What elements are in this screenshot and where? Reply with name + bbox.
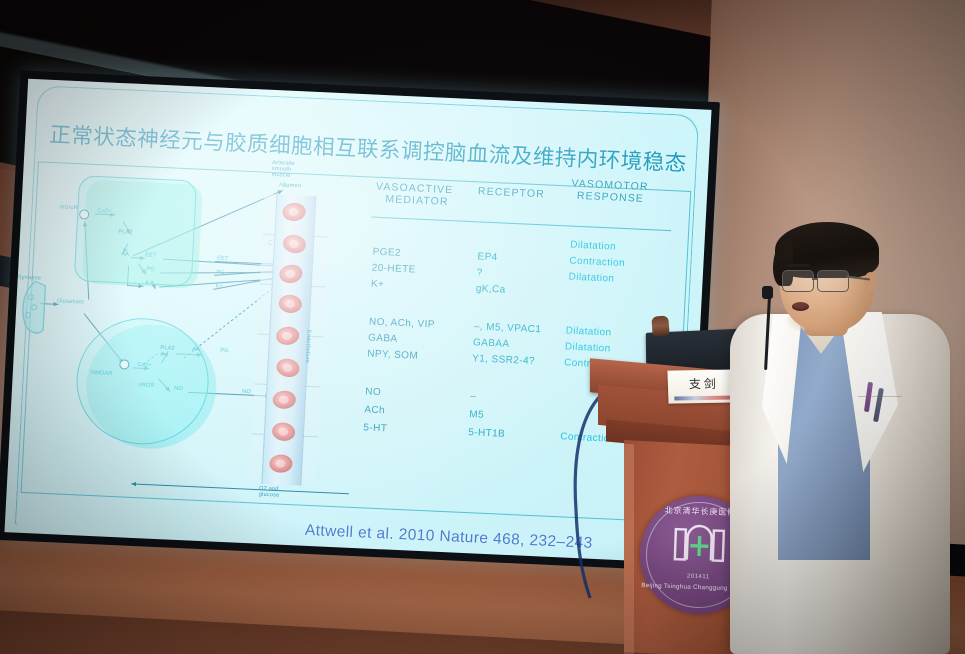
table-header-response: VASOMOTOR RESPONSE: [571, 178, 667, 206]
cell-receptor: –, M5, VPAC1: [474, 321, 542, 335]
arteriole-vessel: Lumen Endothelium: [239, 177, 348, 503]
mouth-speaking: [792, 302, 809, 311]
header-line-2: RESPONSE: [577, 190, 645, 205]
cell-mediator: ACh: [364, 404, 385, 416]
label-ca-astro: Ca2+: [97, 208, 112, 215]
lectern-edge-highlight: [624, 444, 634, 654]
cell-mediator: NPY, SOM: [367, 348, 418, 361]
cell-receptor: gK,Ca: [476, 283, 506, 295]
table-header-receptor: RECEPTOR: [478, 185, 559, 201]
label-k: K+: [146, 280, 154, 286]
speaker-presenter: [718, 228, 965, 654]
speaker-hand-on-laptop: [651, 315, 669, 336]
label-no-neuron: NO: [174, 386, 183, 392]
red-blood-cell: [269, 455, 292, 473]
cell-mediator: GABA: [368, 332, 398, 344]
label-eet: EET: [145, 252, 157, 259]
cell-mediator: NO: [365, 386, 381, 398]
cell-response: Dilatation: [568, 272, 614, 285]
label-synapse: Synapse: [18, 275, 41, 282]
label-pg-2: PG: [216, 270, 225, 276]
cell-receptor: M5: [469, 409, 484, 421]
label-arteriole-smooth-muscle: Arteriole smooth muscle: [271, 160, 306, 180]
cell-mediator: 5-HT: [363, 422, 387, 434]
label-aa-astro: AA: [121, 251, 129, 257]
astrocyte-cell: [74, 175, 197, 286]
cell-receptor: Y1, SSR2-4?: [472, 353, 535, 367]
chin-highlight: [784, 312, 836, 334]
eyeglass-lens-left: [782, 270, 814, 292]
cell-response: Dilatation: [565, 325, 611, 338]
label-ca-neuron: Ca2+: [137, 362, 152, 369]
label-pg-neuron: PG: [220, 348, 229, 354]
table-header-mediator: VASOACTIVE MEDIATOR: [375, 181, 471, 209]
cell-response: Dilatation: [565, 341, 611, 354]
cell-receptor: GABAA: [473, 337, 510, 350]
cell-mediator: PGE2: [372, 247, 401, 259]
cell-receptor: –: [470, 391, 477, 402]
eyeglass-bridge: [812, 278, 818, 280]
cell-response: Dilatation: [570, 240, 616, 253]
cell-receptor: ?: [476, 267, 483, 278]
cell-mediator: NO, ACh, VIP: [369, 317, 435, 331]
label-glutamate: Glutamate: [56, 298, 84, 305]
cell-receptor: EP4: [477, 251, 498, 263]
eyeglass-lens-right: [817, 270, 849, 292]
cell-receptor: 5-HT1B: [468, 427, 505, 440]
synapse-shape: [17, 279, 48, 338]
label-nnos: nNOS: [138, 382, 154, 389]
label-lumen: Lumen: [283, 182, 301, 189]
label-eet-2: EET: [217, 256, 229, 263]
label-nmdar: NMDAR: [91, 370, 113, 377]
label-aa-neuron: AA: [192, 347, 200, 353]
cell-mediator: 20-HETE: [372, 263, 416, 276]
label-k-2: K+: [215, 284, 223, 290]
label-pla2-neuron: PLA2: [160, 345, 175, 352]
cerebral-blood-flow-diagram: Synapse Glutamate mGluR NMDAR Ca2+ Ca2+ …: [9, 163, 374, 508]
header-line-2: MEDIATOR: [385, 193, 449, 208]
conference-photo-scene: 正常状态神经元与胶质细胞相互联系调控脑血流及维持内环境稳态: [0, 0, 965, 654]
label-mglur: mGluR: [59, 204, 78, 211]
label-pg: PG: [146, 266, 155, 272]
eyebrow: [788, 264, 810, 267]
cell-mediator: K+: [371, 279, 385, 291]
ear: [864, 272, 877, 292]
label-pla2-astro: PLA2: [118, 229, 133, 236]
table-header-row: VASOACTIVE MEDIATOR RECEPTOR VASOMOTOR R…: [371, 179, 673, 232]
lapel-microphone: [762, 286, 773, 299]
